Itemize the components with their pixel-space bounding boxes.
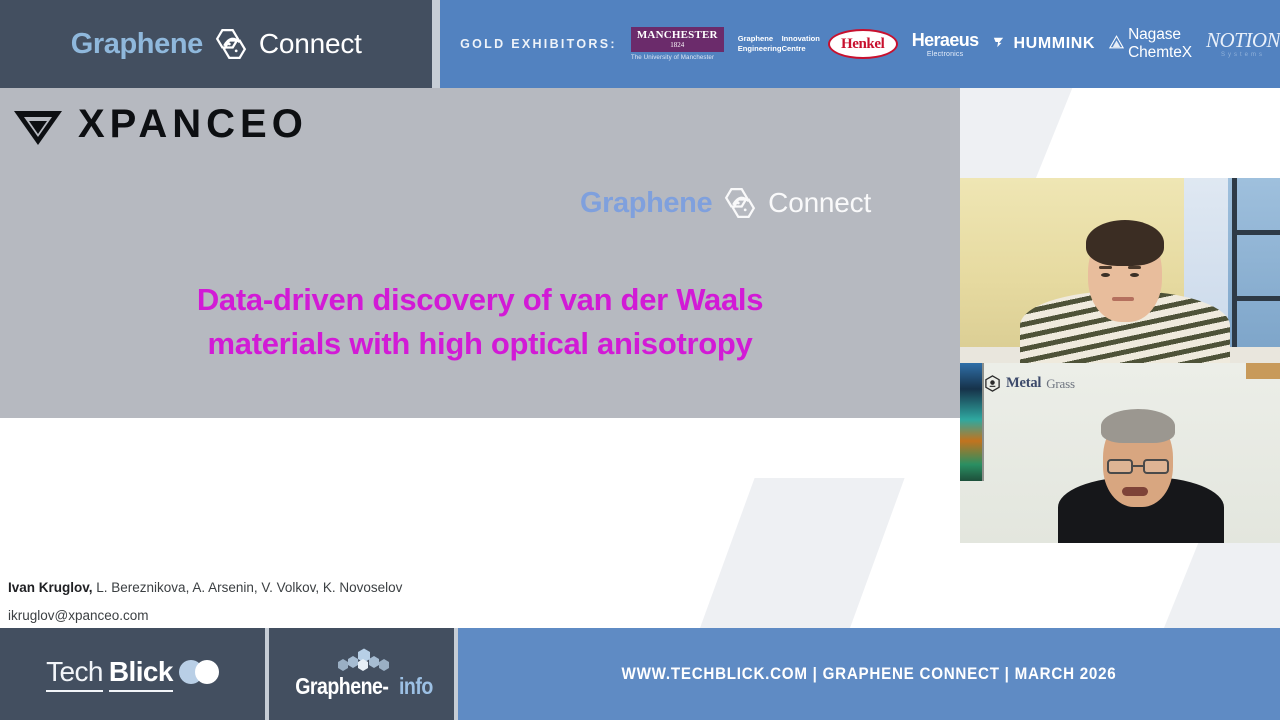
video1-mullion-v (1232, 178, 1237, 363)
slide-watermark-secondary: Connect (768, 187, 871, 219)
manchester-year: 1824 (670, 42, 684, 50)
video-column-bottom-spacer (960, 543, 1280, 628)
slide-body-white: Ivan Kruglov, L. Bereznikova, A. Arsenin… (0, 418, 960, 628)
video2-door-frame (1246, 363, 1280, 379)
graphene-connect-hex-icon (210, 25, 252, 63)
slide-title: Data-driven discovery of van der Waals m… (0, 278, 960, 366)
exhibitor-logo-henkel: Henkel (828, 29, 898, 59)
techblick-dots-icon (179, 660, 219, 684)
author-others: L. Bereznikova, A. Arsenin, V. Volkov, K… (93, 580, 403, 595)
graphene-info-part1: Graphene- (295, 673, 388, 700)
exhibitor-logo-nagase-chemtex: Nagase ChemteX (1109, 26, 1192, 62)
graphene-connect-brand: Graphene Connect (0, 0, 432, 88)
slide-graphene-connect-hex-icon (719, 184, 761, 222)
heraeus-division: Electronics (927, 51, 963, 58)
video1-brow-left (1099, 266, 1112, 269)
brand-primary-text: Graphene (71, 28, 203, 61)
slide-title-line-2: materials with high optical anisotropy (0, 322, 960, 366)
graphene-info-part2: info (399, 673, 433, 700)
video1-mouth (1112, 297, 1134, 301)
video2-hair (1101, 409, 1175, 443)
speaker-video-host[interactable]: Metal Grass (960, 363, 1280, 543)
slide-title-line-1: Data-driven discovery of van der Waals (0, 278, 960, 322)
brand-secondary-text: Connect (259, 28, 362, 60)
hummink-text: HUMMINK (1014, 35, 1096, 53)
geic-line1: Graphene Engineering (738, 34, 782, 55)
diagonal-watermark-bottom (1138, 543, 1280, 628)
xpanceo-triangle-icon (12, 103, 64, 147)
exhibitor-logo-heraeus: Heraeus Electronics (912, 31, 979, 58)
video1-eye-left (1101, 273, 1110, 277)
exhibitor-logo-hummink: HUMMINK (993, 35, 1096, 54)
header-divider (432, 0, 440, 88)
exhibitor-logo-geic: Graphene Engineering Innovation Centre (738, 34, 814, 55)
techblick-part2: Blick (109, 656, 173, 692)
heraeus-name: Heraeus (912, 31, 979, 49)
metalgrass-logo: Metal Grass (984, 375, 1075, 392)
manchester-subtitle: The University of Manchester (631, 54, 714, 61)
video1-mullion-h2 (1232, 296, 1280, 301)
bottom-banner: Tech Blick (0, 628, 1280, 720)
exhibitor-logo-notion-systems: NOTION Systems (1206, 30, 1280, 58)
nagase-text: Nagase ChemteX (1128, 26, 1192, 62)
diagonal-watermark-top (960, 88, 1080, 178)
video1-eye-right (1130, 273, 1139, 277)
notion-name: NOTION (1206, 30, 1280, 51)
slide-graphene-connect-watermark: Graphene Connect (580, 184, 871, 222)
presentation-viewer: Graphene Connect GOLD EXHIBITORS: (0, 0, 1280, 720)
slide-canvas[interactable]: XPANCEO Graphene Connect Data-driven dis… (0, 88, 960, 418)
footer-message-text: WWW.TECHBLICK.COM | GRAPHENE CONNECT | M… (622, 665, 1117, 684)
video2-mouth (1122, 487, 1148, 496)
video2-glasses-right (1143, 459, 1169, 474)
slide-watermark-primary: Graphene (580, 187, 712, 220)
notion-subtitle: Systems (1221, 52, 1265, 58)
metalgrass-emblem-icon (984, 375, 1001, 392)
video2-wall-art (960, 363, 984, 481)
xpanceo-logo: XPANCEO (12, 102, 308, 147)
speaker-video-presenter[interactable] (960, 178, 1280, 363)
hummink-bird-icon (993, 35, 1010, 54)
gold-exhibitors-bar: GOLD EXHIBITORS: MANCHESTER 1824 The Uni… (440, 0, 1280, 88)
henkel-text: Henkel (841, 36, 884, 53)
footer-message-bar: WWW.TECHBLICK.COM | GRAPHENE CONNECT | M… (458, 628, 1280, 720)
video2-glasses-bridge (1133, 465, 1143, 467)
top-banner: Graphene Connect GOLD EXHIBITORS: (0, 0, 1280, 88)
metalgrass-primary: Metal (1006, 375, 1041, 392)
nagase-triangle-icon (1109, 35, 1124, 54)
video1-mullion-h1 (1232, 230, 1280, 235)
graphene-info-hex-cluster-icon (324, 648, 400, 672)
video1-brow-right (1128, 266, 1141, 269)
gold-exhibitors-label: GOLD EXHIBITORS: (460, 37, 617, 51)
author-lead: Ivan Kruglov, (8, 580, 93, 595)
video-column-top-spacer (960, 88, 1280, 178)
techblick-logo: Tech Blick (0, 628, 265, 720)
video2-glasses-left (1107, 459, 1133, 474)
graphene-info-logo: Graphene- info (269, 628, 454, 720)
techblick-part1: Tech (46, 656, 103, 692)
metalgrass-secondary: Grass (1046, 376, 1075, 392)
slide-header: XPANCEO (0, 88, 960, 158)
author-email: ikruglov@xpanceo.com (8, 608, 149, 623)
exhibitor-logo-manchester: MANCHESTER 1824 The University of Manche… (631, 27, 724, 60)
video1-hair (1086, 220, 1164, 266)
author-list: Ivan Kruglov, L. Bereznikova, A. Arsenin… (8, 581, 402, 595)
xpanceo-wordmark: XPANCEO (78, 102, 308, 147)
geic-line2: Innovation Centre (782, 34, 820, 55)
